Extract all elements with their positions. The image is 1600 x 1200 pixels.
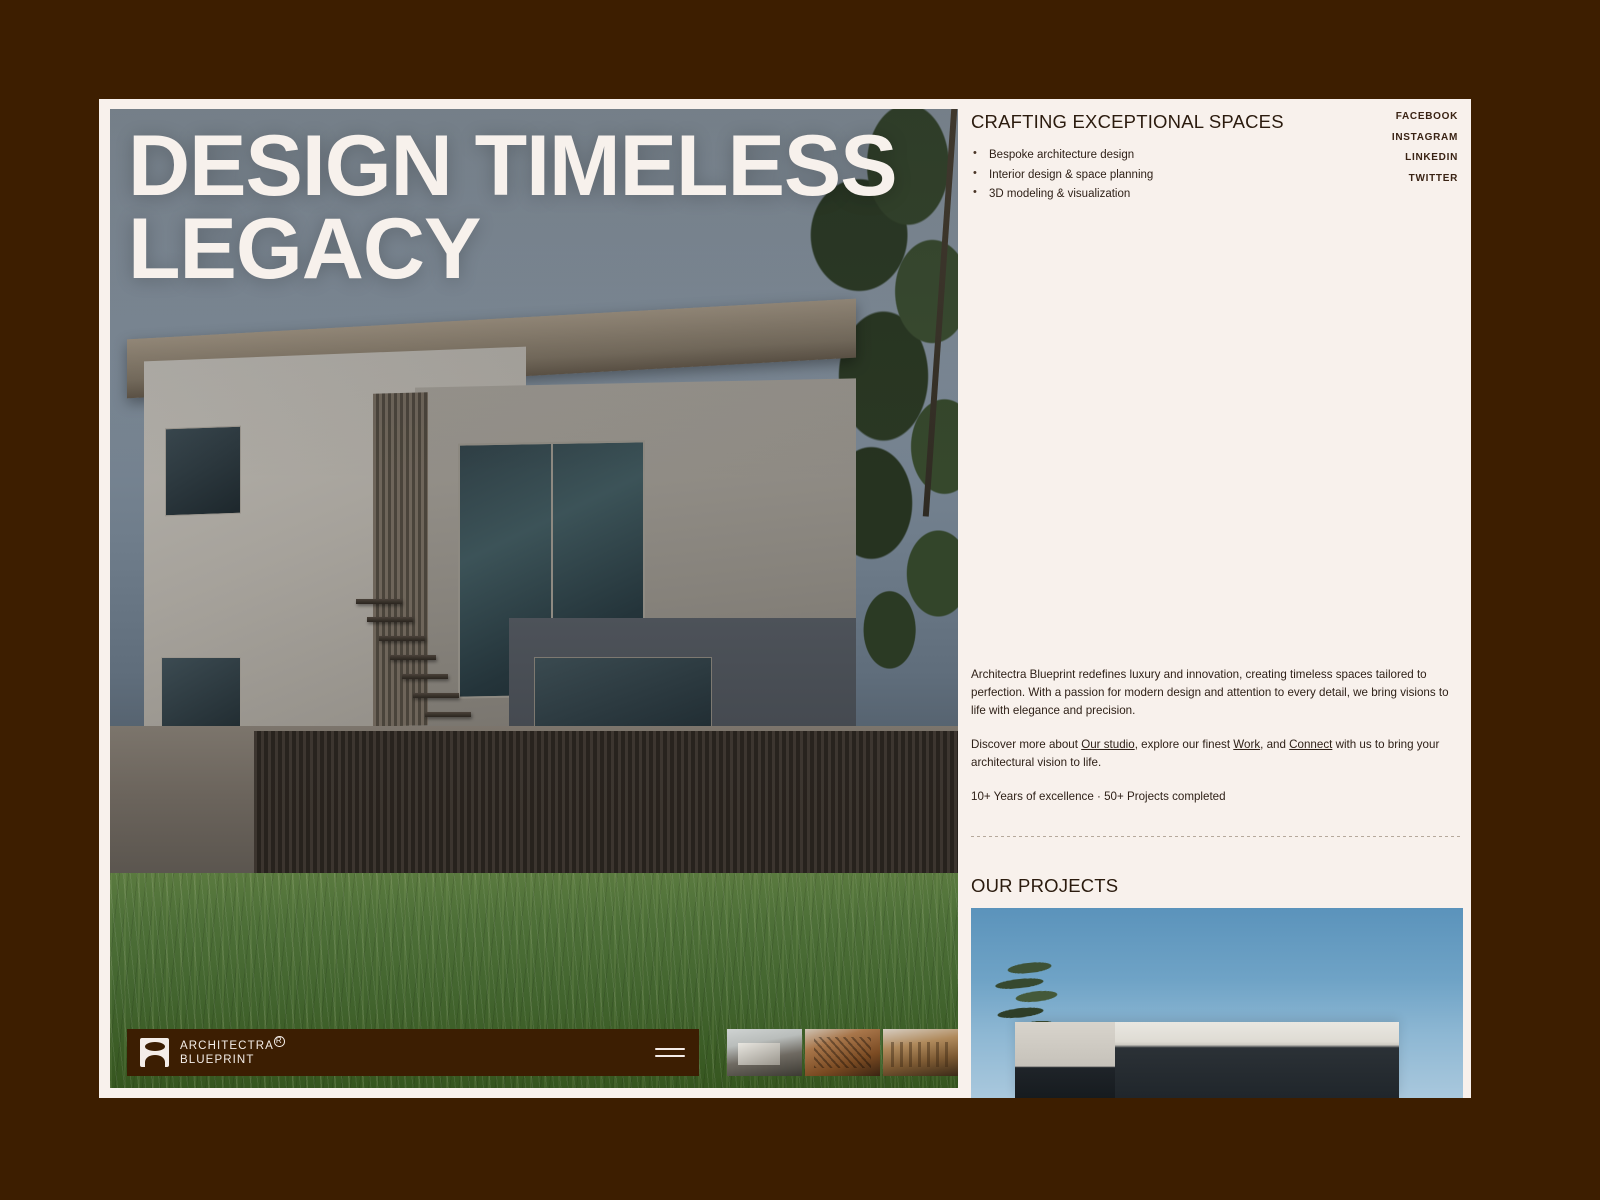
projects-heading: OUR PROJECTS — [971, 875, 1463, 897]
about-text-between-2: , and — [1260, 738, 1289, 751]
about-paragraph-1: Architectra Blueprint redefines luxury a… — [971, 666, 1463, 720]
project-house — [1015, 1022, 1399, 1098]
info-column: CRAFTING EXCEPTIONAL SPACES Bespoke arch… — [958, 99, 1471, 1098]
registered-trademark-icon: R — [274, 1036, 285, 1047]
social-link-linkedin[interactable]: LINKEDIN — [1392, 152, 1458, 163]
service-item: Bespoke architecture design — [971, 147, 1284, 164]
service-item: 3D modeling & visualization — [971, 186, 1284, 203]
about-block: Architectra Blueprint redefines luxury a… — [971, 666, 1463, 837]
brand-line-1: ARCHITECTRA — [180, 1040, 274, 1052]
link-connect[interactable]: Connect — [1289, 738, 1332, 751]
project-thumbnail-strip — [727, 1029, 958, 1076]
hero-title: DESIGN TIMELESS LEGACY — [128, 125, 897, 292]
hero-section: DESIGN TIMELESS LEGACY ARCHITECTRAR BLUE… — [110, 109, 958, 1088]
brand-bar: ARCHITECTRAR BLUEPRINT — [127, 1029, 699, 1076]
social-link-twitter[interactable]: TWITTER — [1392, 173, 1458, 184]
link-our-studio[interactable]: Our studio — [1081, 738, 1135, 751]
architectra-logo-icon[interactable] — [140, 1038, 169, 1067]
thumbnail-3[interactable] — [883, 1029, 958, 1076]
section-divider — [971, 836, 1463, 837]
logo-ellipse-top — [145, 1042, 165, 1051]
hamburger-menu-icon[interactable] — [655, 1043, 685, 1062]
hamburger-bar-2 — [655, 1055, 685, 1057]
thumbnail-2[interactable] — [805, 1029, 880, 1076]
services-list: Bespoke architecture design Interior des… — [971, 147, 1284, 203]
services-block: CRAFTING EXCEPTIONAL SPACES Bespoke arch… — [971, 111, 1284, 206]
logo-arch-bottom — [145, 1055, 165, 1069]
services-heading: CRAFTING EXCEPTIONAL SPACES — [971, 111, 1284, 133]
social-links: FACEBOOK INSTAGRAM LINKEDIN TWITTER — [1392, 111, 1463, 193]
link-work[interactable]: Work — [1233, 738, 1260, 751]
service-item: Interior design & space planning — [971, 167, 1284, 184]
brand-line-2: BLUEPRINT — [180, 1054, 254, 1066]
page-card: DESIGN TIMELESS LEGACY ARCHITECTRAR BLUE… — [99, 99, 1471, 1098]
brand-wordmark: ARCHITECTRAR BLUEPRINT — [180, 1037, 285, 1068]
about-paragraph-2: Discover more about Our studio, explore … — [971, 736, 1463, 772]
about-text-between-1: , explore our finest — [1135, 738, 1234, 751]
social-link-facebook[interactable]: FACEBOOK — [1392, 111, 1458, 122]
thumbnail-1[interactable] — [727, 1029, 802, 1076]
featured-project-image[interactable] — [971, 908, 1463, 1098]
about-stats: 10+ Years of excellence · 50+ Projects c… — [971, 788, 1463, 806]
social-link-instagram[interactable]: INSTAGRAM — [1392, 132, 1458, 143]
about-text-before-studio: Discover more about — [971, 738, 1081, 751]
hamburger-bar-1 — [655, 1048, 685, 1050]
services-header-row: CRAFTING EXCEPTIONAL SPACES Bespoke arch… — [971, 111, 1463, 206]
